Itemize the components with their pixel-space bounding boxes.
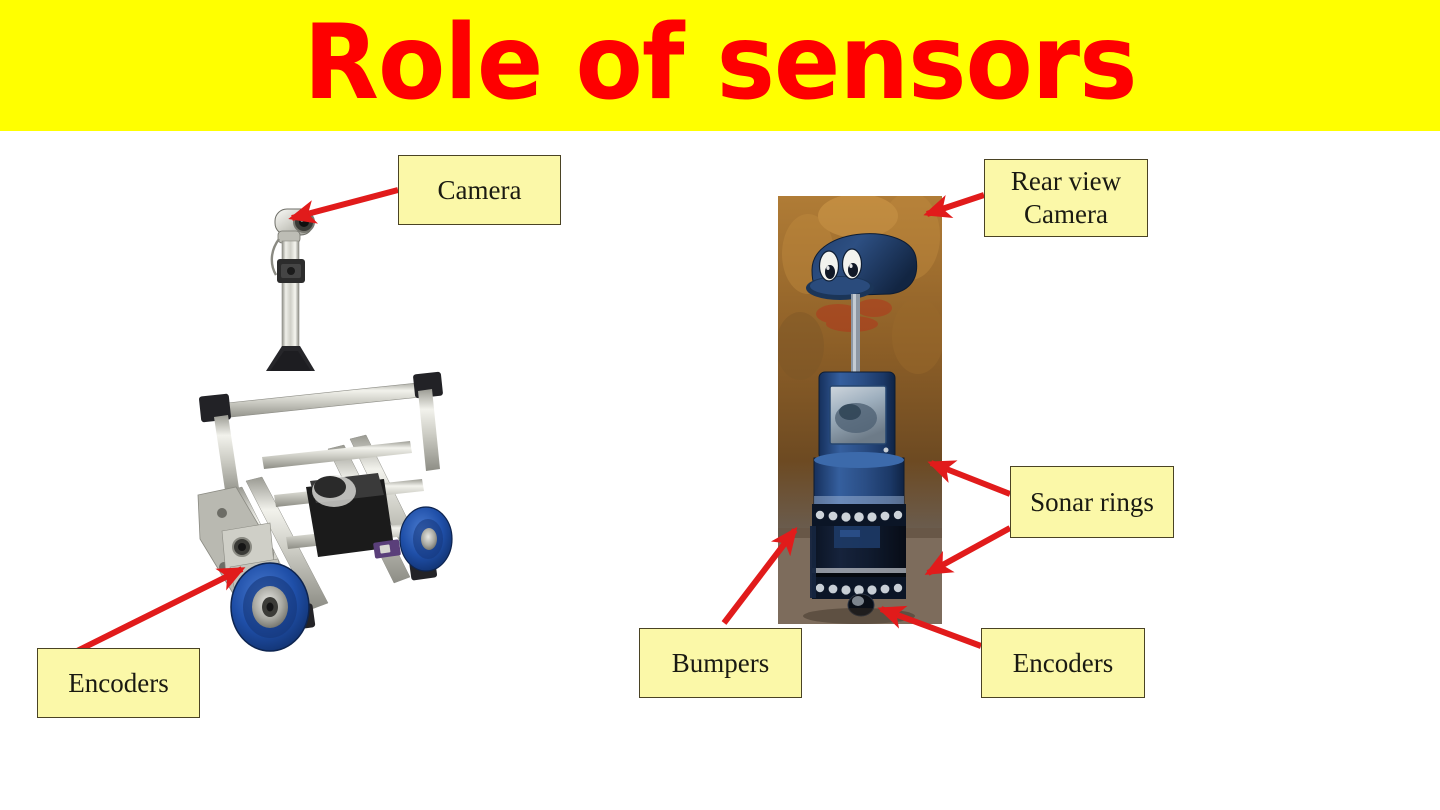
callout-sonar-rings-label: Sonar rings bbox=[1030, 486, 1154, 519]
callout-bumpers-label: Bumpers bbox=[672, 647, 770, 680]
callout-sonar-rings[interactable]: Sonar rings bbox=[1010, 466, 1174, 538]
right-robot-bumper bbox=[810, 526, 816, 598]
figure-right-robot bbox=[778, 196, 942, 624]
left-robot-front-wheel bbox=[231, 563, 309, 651]
callout-rear-view-camera-line2: Camera bbox=[1024, 198, 1108, 231]
callout-camera[interactable]: Camera bbox=[398, 155, 561, 225]
callout-camera-label: Camera bbox=[438, 174, 522, 207]
callout-bumpers[interactable]: Bumpers bbox=[639, 628, 802, 698]
callout-encoders-right[interactable]: Encoders bbox=[981, 628, 1145, 698]
title-banner: Role of sensors bbox=[0, 0, 1440, 131]
page-title: Role of sensors bbox=[304, 11, 1137, 115]
callout-encoders-left-label: Encoders bbox=[68, 667, 168, 700]
right-robot-body bbox=[812, 526, 906, 578]
arrow-sonar-upper bbox=[931, 463, 1010, 494]
callout-encoders-left[interactable]: Encoders bbox=[37, 648, 200, 718]
callout-rear-view-camera-line1: Rear view bbox=[1011, 165, 1121, 198]
slide-canvas: Role of sensors bbox=[0, 0, 1440, 810]
figure-left-robot bbox=[178, 195, 468, 660]
right-robot-sonar-ring-upper bbox=[812, 504, 906, 526]
callout-rear-view-camera[interactable]: Rear view Camera bbox=[984, 159, 1148, 237]
callout-encoders-right-label: Encoders bbox=[1013, 647, 1113, 680]
left-robot-rear-wheel bbox=[400, 507, 452, 571]
right-robot-screen bbox=[819, 372, 895, 460]
